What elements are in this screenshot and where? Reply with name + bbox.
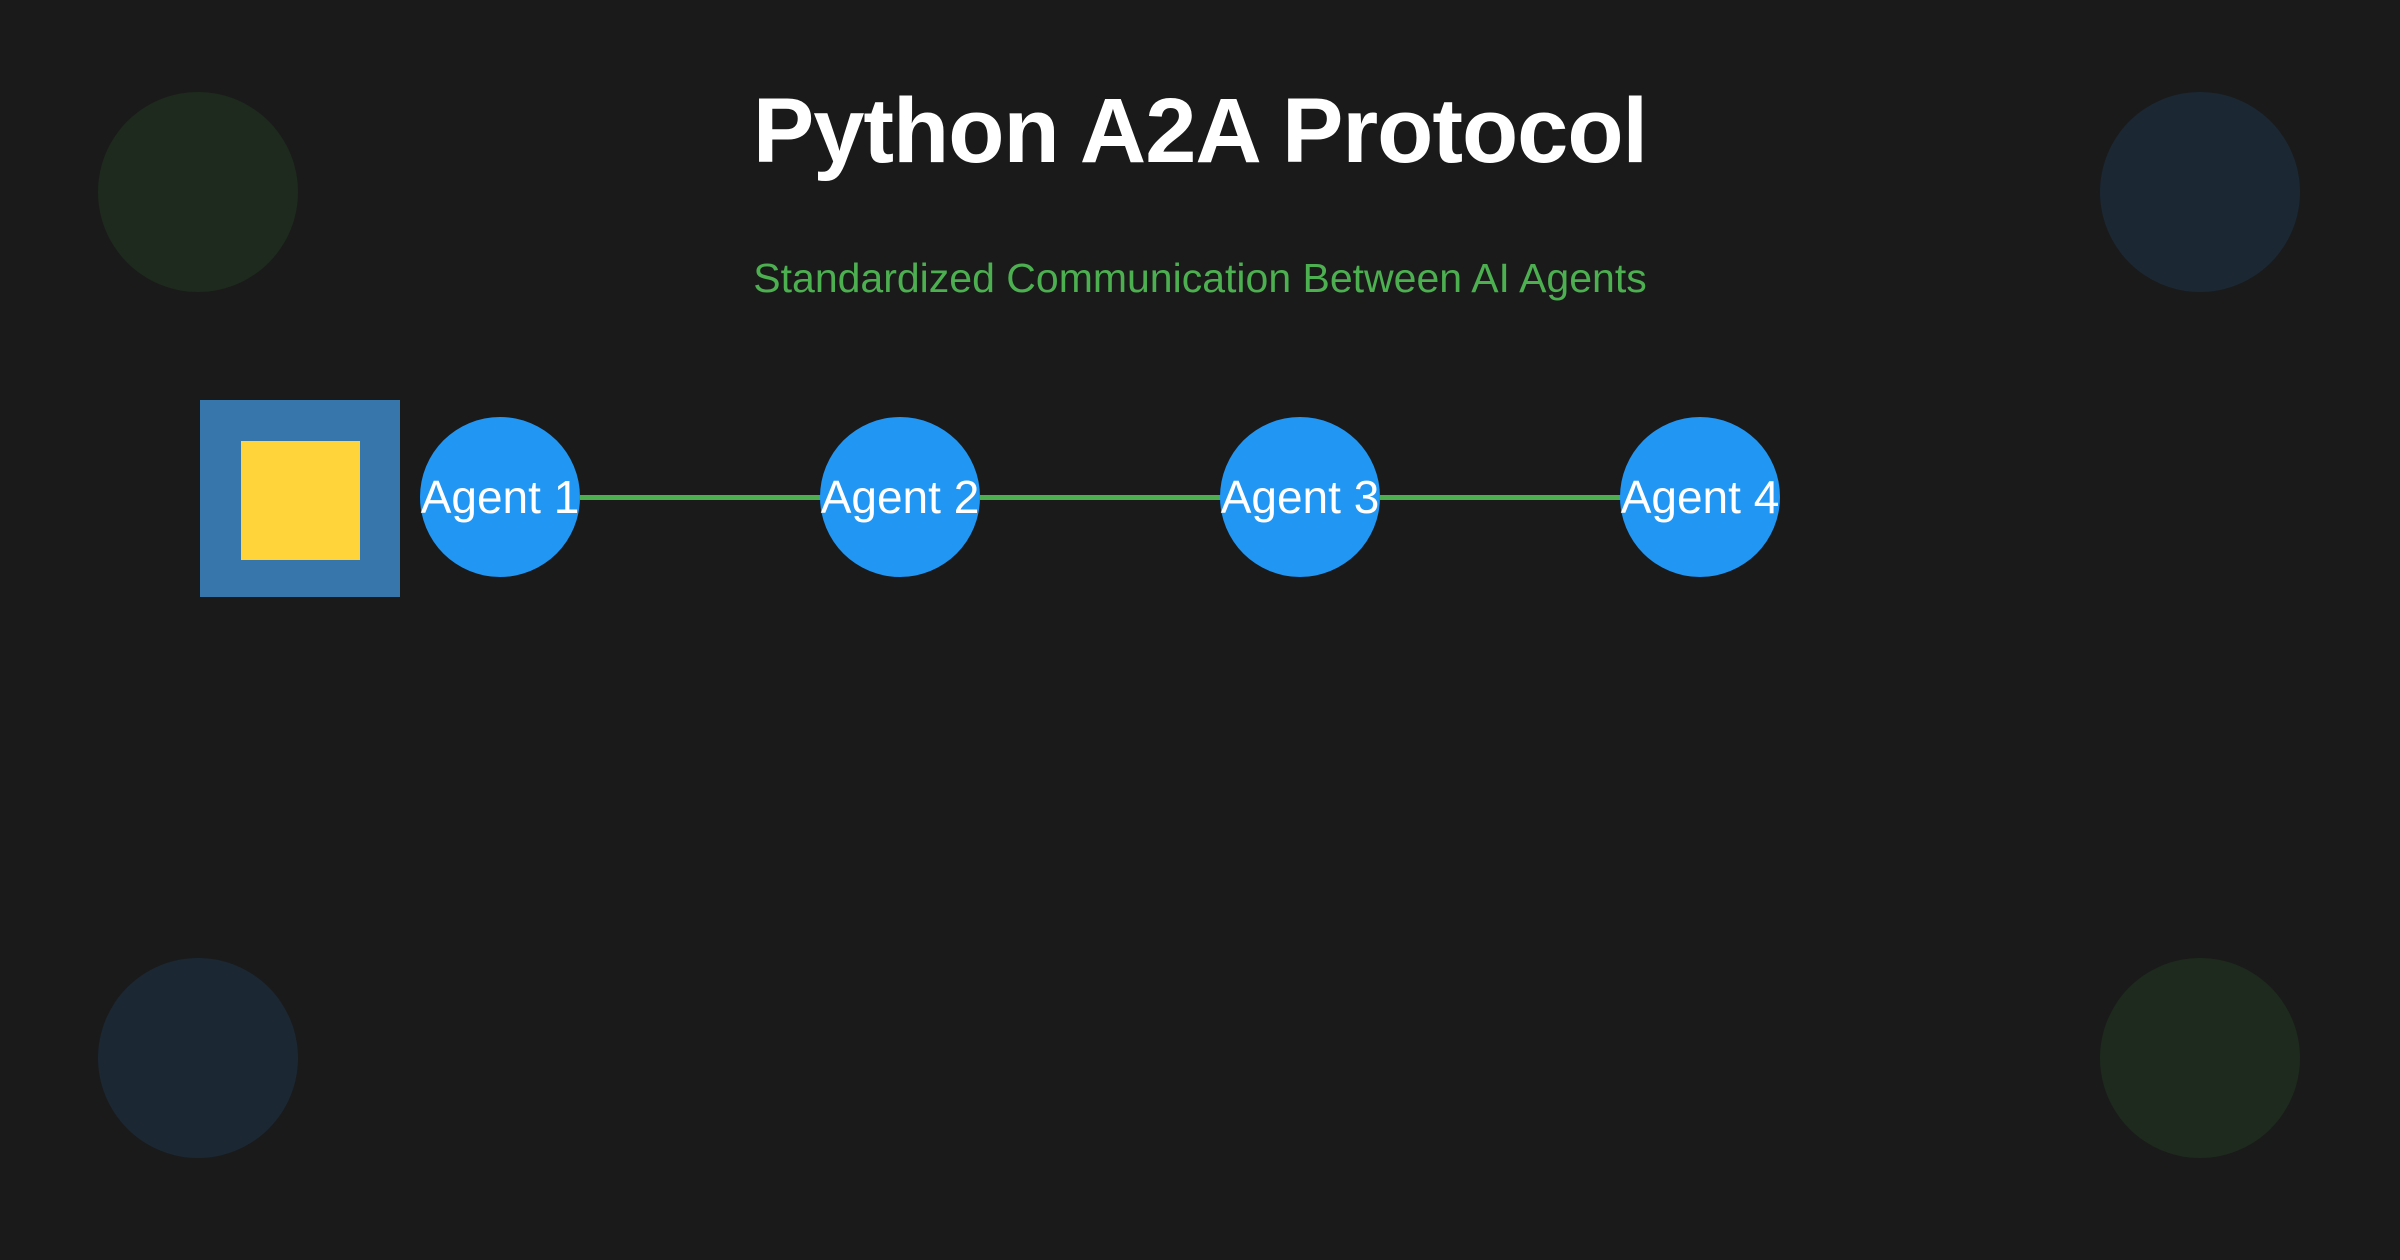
slide-canvas: Python A2A Protocol Standardized Communi… [0, 0, 2400, 1260]
node-label-agent-2: Agent 2 [750, 417, 1050, 577]
agent-graph: Agent 1 Agent 2 Agent 3 Agent 4 [0, 0, 2400, 1260]
node-label-agent-4: Agent 4 [1550, 417, 1850, 577]
node-label-agent-1: Agent 1 [350, 417, 650, 577]
node-label-agent-3: Agent 3 [1150, 417, 1450, 577]
